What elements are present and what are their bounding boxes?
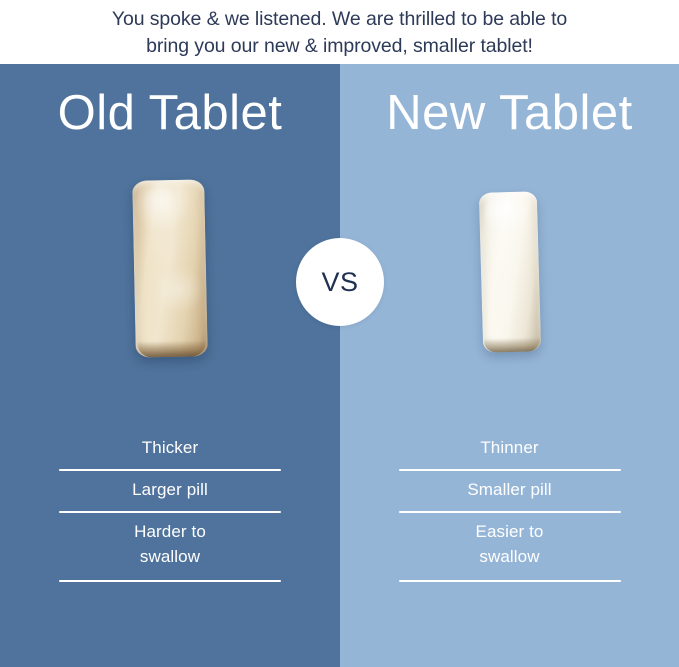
feature-item-line-1: Easier to <box>340 519 679 544</box>
feature-item: Harder to swallow <box>0 513 340 580</box>
feature-item: Thinner <box>340 429 679 469</box>
panel-title-new: New Tablet <box>340 84 679 142</box>
feature-item-line-2: swallow <box>0 544 340 569</box>
feature-item: Larger pill <box>0 471 340 511</box>
panel-old-tablet: Old Tablet Thicker Larger pill Harder to… <box>0 64 340 667</box>
pill-stage-old <box>0 164 340 364</box>
panel-title-old: Old Tablet <box>0 84 340 142</box>
new-tablet-pill <box>478 191 540 353</box>
feature-item: Smaller pill <box>340 471 679 511</box>
feature-divider <box>399 580 621 582</box>
feature-item: Easier to swallow <box>340 513 679 580</box>
headline-banner: You spoke & we listened. We are thrilled… <box>0 0 679 64</box>
pill-stage-new <box>340 164 679 364</box>
feature-list-old: Thicker Larger pill Harder to swallow <box>0 429 340 582</box>
old-tablet-pill <box>132 179 208 357</box>
headline-line-2: bring you our new & improved, smaller ta… <box>146 33 533 60</box>
panel-new-tablet: New Tablet Thinner Smaller pill Easier t… <box>340 64 679 667</box>
comparison-panels: Old Tablet Thicker Larger pill Harder to… <box>0 64 679 667</box>
tablet-comparison-infographic: You spoke & we listened. We are thrilled… <box>0 0 679 667</box>
vs-badge: VS <box>296 238 384 326</box>
feature-list-new: Thinner Smaller pill Easier to swallow <box>340 429 679 582</box>
feature-item-line-2: swallow <box>340 544 679 569</box>
feature-divider <box>59 580 281 582</box>
feature-item: Thicker <box>0 429 340 469</box>
feature-item-line-1: Harder to <box>0 519 340 544</box>
headline-line-1: You spoke & we listened. We are thrilled… <box>112 6 567 33</box>
